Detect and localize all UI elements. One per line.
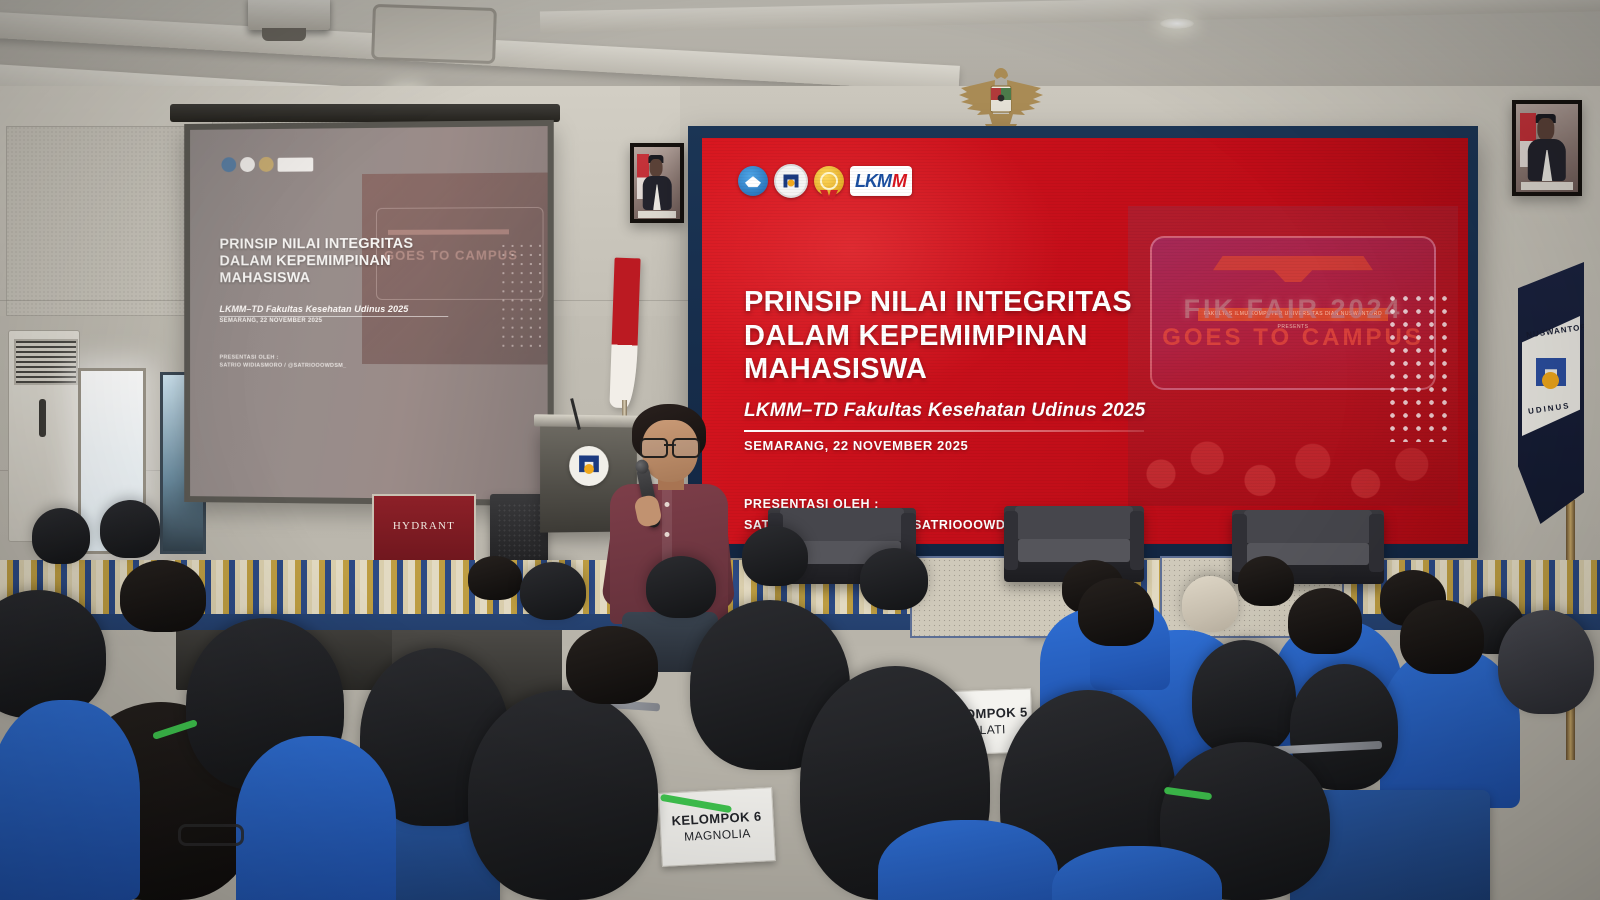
presenter-speaker: [596, 404, 738, 634]
led-screen-surface: FAKULTAS ILMU KOMPUTER UNIVERSITAS DIAN …: [702, 138, 1468, 544]
lkmm-icon: LKM M: [850, 166, 912, 196]
presenter-shirt-placket: [662, 488, 672, 622]
projected-credit-handle: SATRIO WIDIASMORO / @SATRIOOOWDSM_: [219, 362, 346, 371]
sofa-arm: [768, 513, 783, 572]
portrait-head: [1537, 118, 1554, 141]
garuda-pancasila-icon: [955, 58, 1047, 136]
standing-air-conditioner: [8, 330, 80, 542]
wall-portrait-right: [1512, 100, 1582, 196]
lkmm-main-text: LKM: [855, 171, 891, 192]
audience-jacket: [1112, 630, 1248, 780]
tut-wuri-handayani-icon: [738, 166, 768, 196]
slide-title-line-3: MAHASISWA: [744, 353, 1224, 387]
udinus-icon: [774, 164, 808, 198]
sofa-arm: [1369, 514, 1384, 572]
audience-member: [1160, 742, 1330, 900]
audience-jacket: [236, 736, 396, 900]
lanyard: [1164, 787, 1213, 801]
audience-jacket: [0, 700, 140, 900]
portrait-image: [634, 147, 680, 219]
sofa-back: [1244, 510, 1372, 543]
shirt-button: [665, 592, 670, 597]
eyeglasses-icon: [640, 438, 700, 454]
projected-slide-credit: PRESENTASI OLEH : SATRIO WIDIASMORO / @S…: [219, 354, 346, 371]
projected-title-line-1: PRINSIP NILAI INTEGRITAS: [219, 236, 448, 254]
audience-chair: [1290, 790, 1490, 900]
sofa-seat: [1247, 543, 1369, 565]
audience-member: [66, 702, 256, 900]
slide-logo-row: LKM M: [738, 164, 912, 198]
placard-group: KELOMPOK 6: [671, 809, 762, 830]
audience-member: [1192, 640, 1296, 756]
poster-dot-pattern: [1386, 292, 1452, 442]
ac-display-slot: [39, 399, 46, 437]
slide-title: PRINSIP NILAI INTEGRITAS DALAM KEPEMIMPI…: [744, 286, 1224, 387]
projected-slide: GOES TO CAMPUS PRINSIP NILAI INTEGRITAS …: [190, 126, 548, 500]
audience-chair: [320, 806, 500, 900]
sofa-arm: [1004, 511, 1018, 570]
led-video-wall: FAKULTAS ILMU KOMPUTER UNIVERSITAS DIAN …: [688, 126, 1478, 558]
eyeglasses-icon: [178, 824, 244, 846]
lkmm-icon: [278, 157, 314, 171]
sofa-arm: [1232, 514, 1247, 572]
slide-subtitle: LKMM–TD Fakultas Kesehatan Udinus 2025: [744, 400, 1164, 422]
shirt-button: [665, 532, 670, 537]
slide-divider: [744, 430, 1144, 432]
lanyard: [152, 719, 198, 740]
shirt-button: [665, 562, 670, 567]
hydrant-label: HYDRANT: [374, 520, 474, 532]
projection-screen-surface: GOES TO CAMPUS PRINSIP NILAI INTEGRITAS …: [190, 126, 548, 500]
wall-portrait-left: [630, 143, 684, 223]
projected-slide-date: SEMARANG, 22 NOVEMBER 2025: [219, 318, 322, 324]
placard-group: KELOMPOK 5: [937, 705, 1027, 724]
chair-frame: [1262, 741, 1382, 755]
medal-icon: [259, 157, 274, 172]
sofa-seat: [783, 541, 901, 564]
portrait-nameplate: [1521, 182, 1573, 190]
projection-screen: GOES TO CAMPUS PRINSIP NILAI INTEGRITAS …: [184, 120, 554, 506]
sofa-seat: [1018, 539, 1130, 562]
projected-poster-dots: [499, 241, 546, 352]
front-table: [392, 628, 562, 732]
placard-name: MAGNOLIA: [684, 826, 751, 844]
audience-member: [1000, 690, 1176, 900]
projected-title-line-3: MAHASISWA: [219, 270, 448, 288]
glasses-left-lens: [640, 438, 668, 458]
group-placard: KELOMPOK 6 MAGNOLIA: [658, 787, 776, 867]
portrait-nameplate: [638, 211, 677, 217]
udinus-icon: [240, 157, 255, 172]
glasses-right-lens: [672, 438, 700, 458]
flag-pole: [1566, 500, 1575, 760]
tut-wuri-handayani-icon: [221, 157, 236, 172]
wall-acoustic-panel: [6, 126, 202, 316]
sofa-back: [1015, 506, 1133, 539]
audience-jacket: [878, 820, 1058, 900]
medal-icon: [814, 166, 844, 196]
chair-frame: [560, 697, 660, 712]
audience-jacket: [1052, 846, 1222, 900]
auditorium-photo: GOES TO CAMPUS PRINSIP NILAI INTEGRITAS …: [0, 0, 1600, 900]
projected-slide-title: PRINSIP NILAI INTEGRITAS DALAM KEPEMIMPI…: [219, 236, 448, 288]
open-doorway: [78, 368, 146, 554]
hydrant-cabinet: HYDRANT: [372, 494, 476, 570]
placard-name: MELATI: [961, 722, 1006, 739]
stage-sofa: [768, 508, 916, 584]
portrait-image: [1516, 104, 1578, 192]
projected-poster-strip: [388, 229, 509, 235]
lkmm-accent-text: M: [892, 171, 907, 192]
projection-screen-roller: [170, 104, 560, 122]
presenter-resting-hand: [674, 590, 708, 612]
slide-date: SEMARANG, 22 NOVEMBER 2025: [744, 438, 968, 453]
shirt-button: [665, 502, 670, 507]
projected-slide-subtitle: LKMM–TD Fakultas Kesehatan Udinus 2025: [219, 304, 448, 317]
sofa-arm: [1130, 511, 1144, 570]
audience-member: [800, 666, 990, 900]
group-placard: KELOMPOK 5 MELATI: [933, 688, 1033, 755]
projected-logo-row: [221, 156, 313, 172]
poster-crest-icon: [1213, 256, 1373, 282]
stage-sofa: [1004, 506, 1144, 582]
portrait-head: [650, 159, 663, 178]
ac-grill: [14, 339, 78, 385]
presenter-legs: [622, 612, 718, 672]
projected-title-line-2: DALAM KEPEMIMPINAN: [219, 253, 448, 271]
sofa-arm: [901, 513, 916, 572]
slide-title-line-1: PRINSIP NILAI INTEGRITAS: [744, 286, 1224, 320]
stage-sofa: [1232, 510, 1384, 584]
sofa-back: [780, 508, 904, 541]
lanyard: [660, 794, 732, 813]
slide-title-line-2: DALAM KEPEMIMPINAN: [744, 320, 1224, 354]
udinus-university-flag: NUSWANTORO UDINUS: [1518, 262, 1584, 524]
udinus-crest-dot: [1542, 372, 1559, 389]
audience-member: [1290, 664, 1398, 790]
audience-jacket: [1380, 648, 1520, 808]
